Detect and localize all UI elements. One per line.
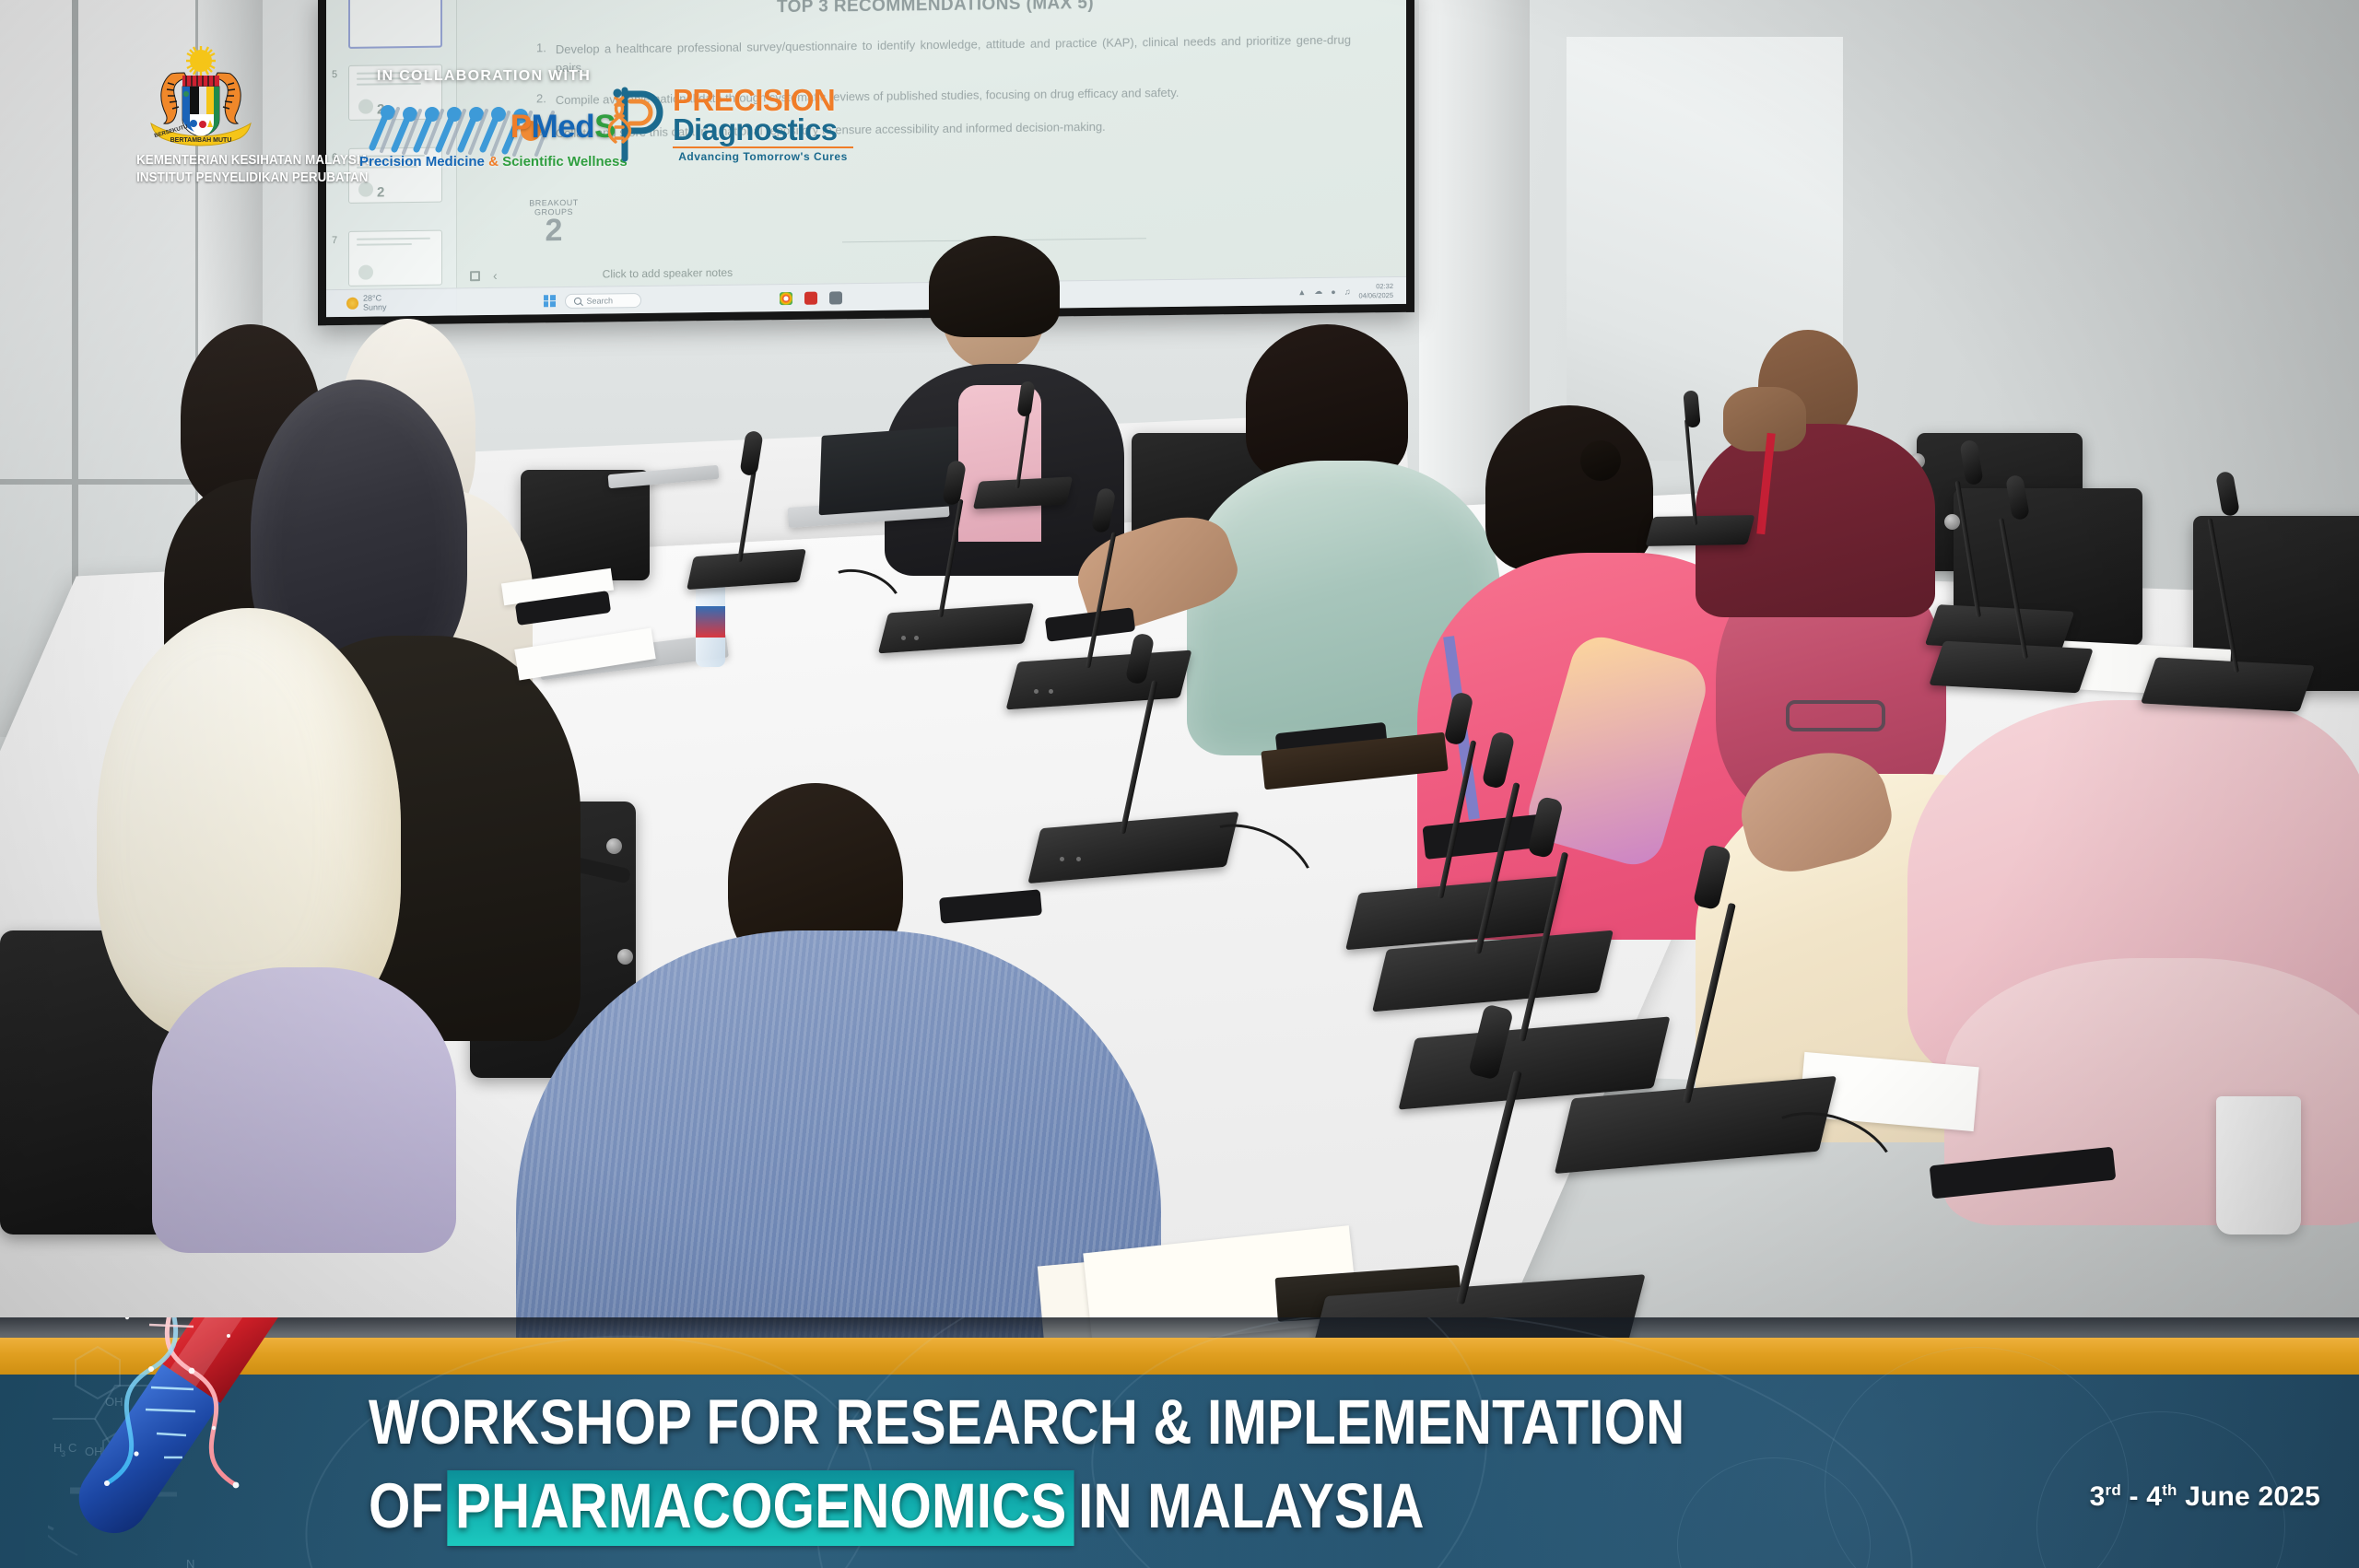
svg-text:BERTAMBAH MUTU: BERTAMBAH MUTU [170, 137, 232, 144]
windows-icon[interactable] [544, 295, 556, 307]
search-label: Search [587, 296, 614, 305]
pdx-line2: Diagnostics [673, 114, 853, 145]
dna-capsule-icon: H3C OHOHH N [48, 1317, 324, 1568]
window-mullion [0, 479, 198, 485]
thumbnail-number: 5 [332, 69, 337, 80]
search-icon [574, 297, 581, 304]
date-separator: - [2129, 1481, 2138, 1512]
pdf-reader-icon[interactable] [804, 291, 817, 304]
collaboration-label: IN COLLABORATION WITH [359, 68, 608, 85]
ministry-of-health-logo: BERTAMBAH MUTU BERSEKUTU KEMENTERIAN KES… [131, 46, 271, 186]
banner-title-highlight: PHARMACOGENOMICS [448, 1470, 1074, 1546]
wifi-icon[interactable]: ● [1331, 287, 1335, 296]
clock-time: 02:32 [1358, 282, 1393, 291]
slide-list-item: 1. Develop a healthcare professional sur… [536, 31, 1351, 77]
slide-breakout-badge: BREAKOUT GROUPS 2 [520, 198, 588, 251]
banner-title: WORKSHOP FOR RESEARCH & IMPLEMENTATION O… [369, 1389, 1954, 1546]
collaboration-block: IN COLLABORATION WITH [359, 68, 608, 166]
pmeds-wordmark: PMedS [511, 109, 616, 146]
pdx-tagline: Advancing Tomorrow's Cures [673, 146, 853, 163]
cloud-icon[interactable]: ☁ [1314, 287, 1322, 297]
chevron-left-icon[interactable]: ‹ [493, 268, 498, 283]
thumbnail-number: 7 [332, 235, 337, 246]
taskbar-clock[interactable]: 02:32 04/06/2025 [1358, 282, 1393, 299]
date-day2: 4 [2146, 1481, 2162, 1512]
chevron-up-icon[interactable]: ▲ [1297, 287, 1306, 297]
screenshot-root: 2 5 2 6 7 [0, 0, 2359, 1568]
pdx-line1: PRECISION [673, 86, 853, 115]
date-month-year: June 2025 [2185, 1481, 2320, 1512]
laptop-screen [819, 427, 958, 516]
grid-view-icon[interactable] [470, 271, 480, 281]
pmeds-logo: PMedS Precision Medicine & Scientific We… [359, 94, 608, 166]
banner-title-line1: WORKSHOP FOR RESEARCH & IMPLEMENTATION [369, 1389, 1708, 1456]
volume-icon[interactable]: ♫ [1344, 287, 1351, 296]
banner-title-tail: IN MALAYSIA [1078, 1470, 1424, 1541]
banner-title-line2: OFPHARMACOGENOMICSIN MALAYSIA [369, 1470, 1708, 1546]
date-day1-suffix: rd [2106, 1481, 2121, 1499]
badge-number: 2 [520, 216, 588, 245]
ministry-name-line1: KEMENTERIAN KESIHATAN MALAYSIA [136, 153, 265, 170]
malaysia-coat-of-arms-icon: BERTAMBAH MUTU BERSEKUTU [131, 46, 271, 149]
clock-date: 04/06/2025 [1358, 291, 1393, 300]
store-icon[interactable] [829, 291, 842, 304]
coffee-cup [2216, 1096, 2301, 1235]
sun-icon [346, 298, 358, 310]
taskbar-weather-widget[interactable]: 28°C Sunny [346, 294, 387, 311]
weather-description: Sunny [363, 303, 387, 312]
event-banner: H3C OHOHH N [0, 1317, 2359, 1568]
taskbar-system-tray[interactable]: ▲ ☁ ● ♫ 02:32 04/06/2025 [1297, 282, 1393, 300]
speaker-notes-placeholder[interactable]: Click to add speaker notes [603, 266, 733, 281]
date-day2-suffix: th [2162, 1481, 2177, 1499]
banner-date: 3rd - 4th June 2025 [2090, 1481, 2320, 1513]
precision-diagnostics-logo: PRECISION Diagnostics Advancing Tomorrow… [608, 85, 853, 164]
chrome-icon[interactable] [780, 291, 792, 304]
slide-item-text: Develop a healthcare professional survey… [556, 31, 1351, 77]
pdx-dna-p-icon [608, 85, 665, 164]
ministry-name-line2: INSTITUT PENYELIDIKAN PERUBATAN [136, 170, 265, 187]
taskbar-search-box[interactable]: Search [565, 292, 642, 308]
banner-title-of: OF [369, 1470, 443, 1541]
taskbar-app-icons[interactable] [780, 291, 842, 305]
date-day1: 3 [2090, 1481, 2106, 1512]
slide-title: TOP 3 RECOMMENDATIONS (MAX 5) [520, 0, 1351, 21]
pmeds-tagline: Precision Medicine & Scientific Wellness [359, 154, 617, 170]
